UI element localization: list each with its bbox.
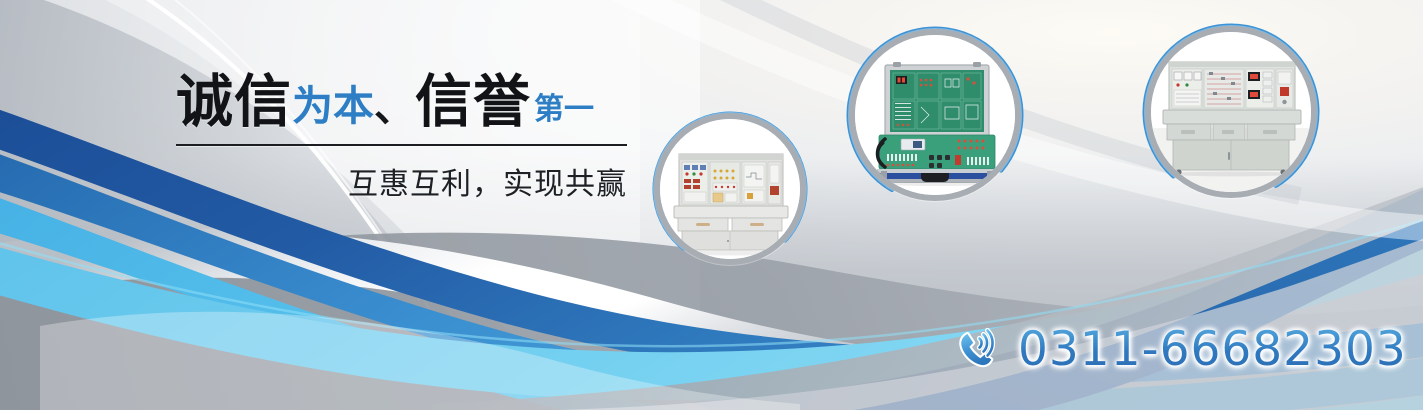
phone-call-icon [954, 325, 1002, 373]
headline: 诚信 为本 、 信誉 第一 [176, 74, 628, 131]
headline-part-3: 信誉 [415, 74, 531, 131]
product-circle-2[interactable] [845, 25, 1025, 205]
headline-part-2: 为本 [292, 86, 374, 127]
headline-part-4: 第一 [531, 95, 594, 125]
promotional-banner: 诚信 为本 、 信誉 第一 互惠互利，实现共赢 [0, 0, 1423, 410]
product-circle-1[interactable] [651, 110, 809, 268]
circle-2-frame [855, 35, 1015, 195]
circle-1-frame [660, 119, 800, 259]
electrical-control-training-bench-image [1151, 32, 1311, 192]
headline-block: 诚信 为本 、 信誉 第一 互惠互利，实现共赢 [176, 74, 628, 203]
phone-number[interactable]: 0311-66682303 [1018, 326, 1407, 373]
headline-divider [176, 144, 627, 146]
contact-phone-block[interactable]: 0311-66682303 [954, 325, 1407, 373]
product-circle-3[interactable] [1141, 22, 1321, 202]
subtitle: 互惠互利，实现共赢 [176, 159, 627, 203]
headline-comma: 、 [374, 87, 415, 128]
electrical-training-workbench-image [660, 119, 800, 259]
circle-3-frame [1151, 32, 1311, 192]
headline-part-1: 诚信 [176, 74, 292, 131]
portable-electronics-training-case-image [855, 35, 1015, 195]
